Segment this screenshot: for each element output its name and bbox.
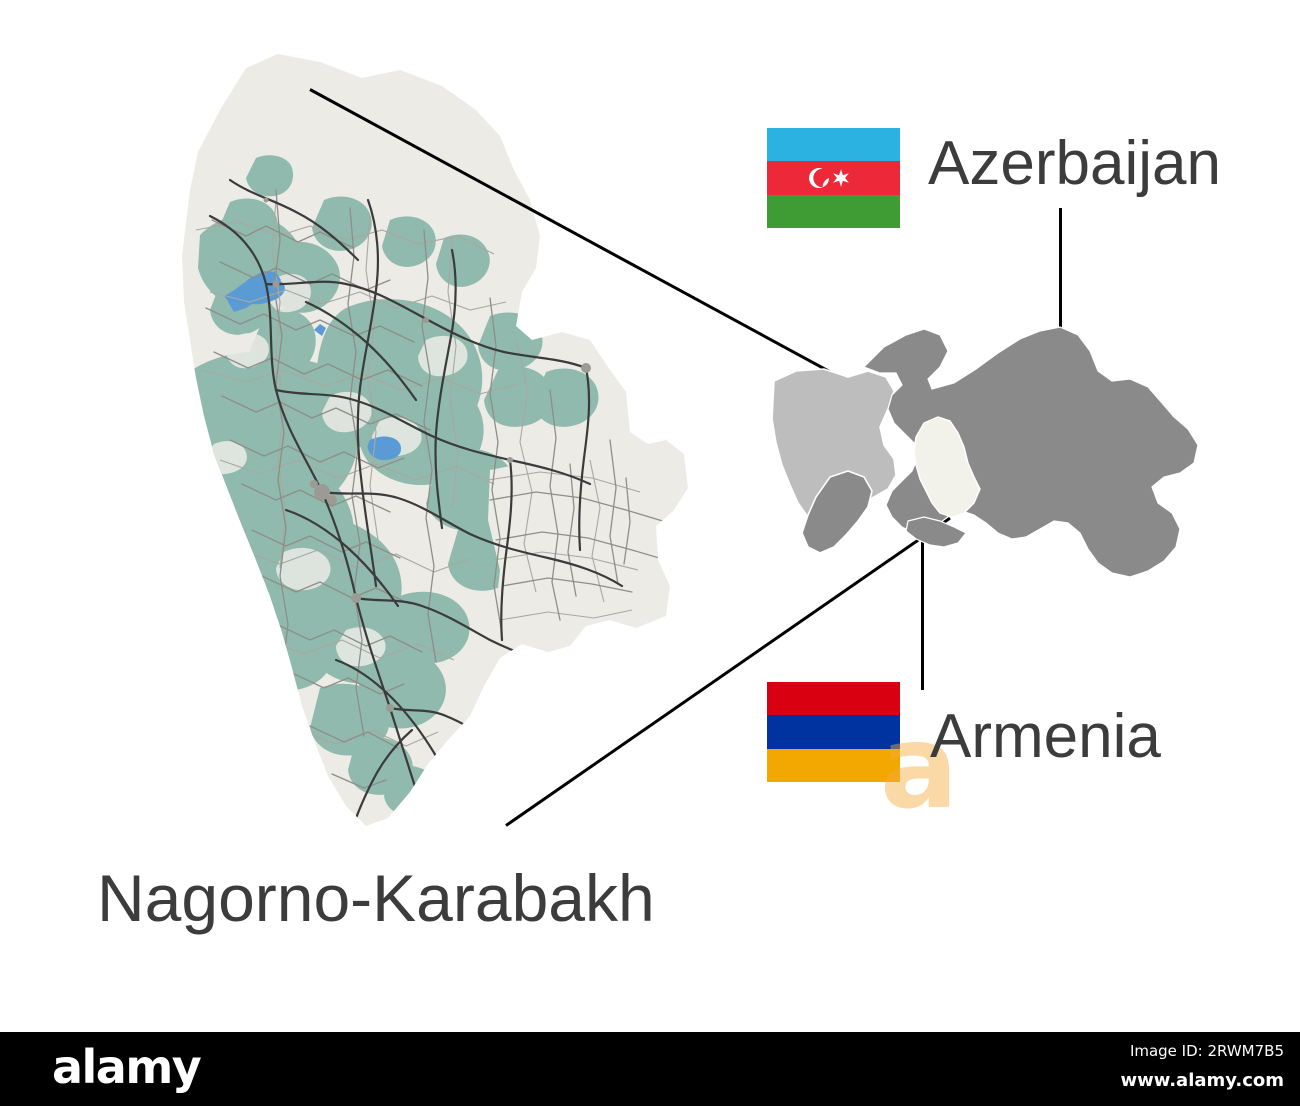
eastern-lowland — [488, 460, 680, 656]
flag-band-orange — [767, 749, 900, 782]
figure-canvas: ala a Azerbaijan Armenia Nagorno-Karabak… — [0, 0, 1300, 1106]
crescent-star-icon — [808, 162, 860, 194]
inset-region-south-lobe — [906, 517, 966, 547]
image-id-text: Image ID: 2RWM7B5 — [1130, 1042, 1284, 1060]
armenia-flag — [767, 682, 900, 782]
flag-band-blue — [767, 715, 900, 748]
flag-band-red — [767, 682, 900, 715]
flag-band-blue — [767, 128, 900, 161]
alamy-url-text: www.alamy.com — [1120, 1070, 1284, 1091]
flag-band-green — [767, 195, 900, 228]
label-armenia: Armenia — [930, 706, 1161, 768]
alamy-logo: alamy — [52, 1040, 200, 1094]
azerbaijan-flag — [767, 128, 900, 228]
nagorno-karabakh-detail-map — [70, 40, 720, 850]
label-azerbaijan: Azerbaijan — [928, 133, 1221, 195]
page-title: Nagorno-Karabakh — [97, 865, 655, 931]
south-caucasus-inset-map: ala — [768, 325, 1208, 625]
